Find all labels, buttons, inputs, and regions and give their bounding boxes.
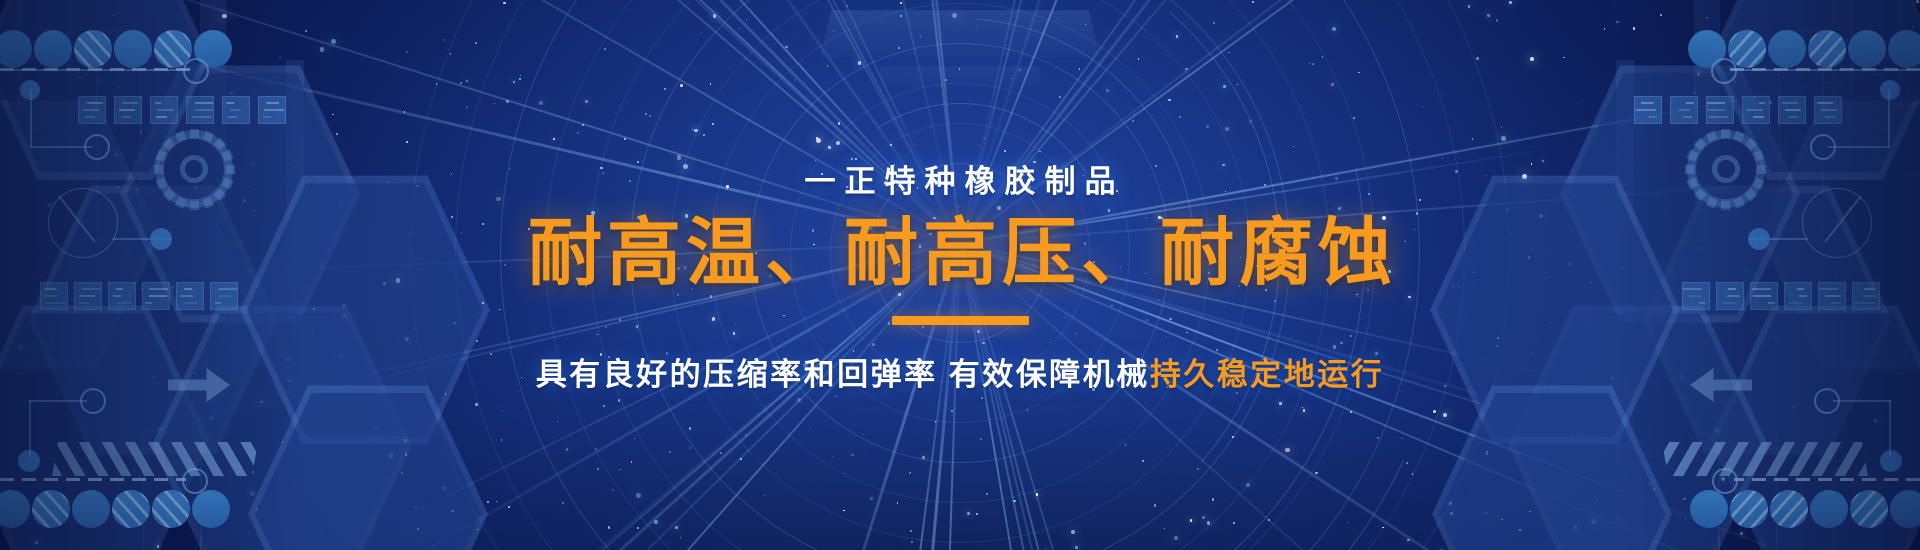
banner-subtitle: 具有良好的压缩率和回弹率 有效保障机械持久稳定地运行 bbox=[536, 349, 1385, 394]
banner-headline: 耐高温、耐高压、耐腐蚀 bbox=[523, 215, 1397, 290]
headline-divider bbox=[892, 316, 1029, 325]
subtitle-white-part: 具有良好的压缩率和回弹率 有效保障机械 bbox=[536, 357, 1150, 392]
banner-content: 一正特种橡胶制品 耐高温、耐高压、耐腐蚀 具有良好的压缩率和回弹率 有效保障机械… bbox=[0, 0, 1920, 550]
subtitle-orange-part: 持久稳定地运行 bbox=[1150, 357, 1385, 392]
hero-banner: 一正特种橡胶制品 耐高温、耐高压、耐腐蚀 具有良好的压缩率和回弹率 有效保障机械… bbox=[0, 0, 1920, 550]
banner-eyebrow: 一正特种橡胶制品 bbox=[796, 156, 1125, 201]
